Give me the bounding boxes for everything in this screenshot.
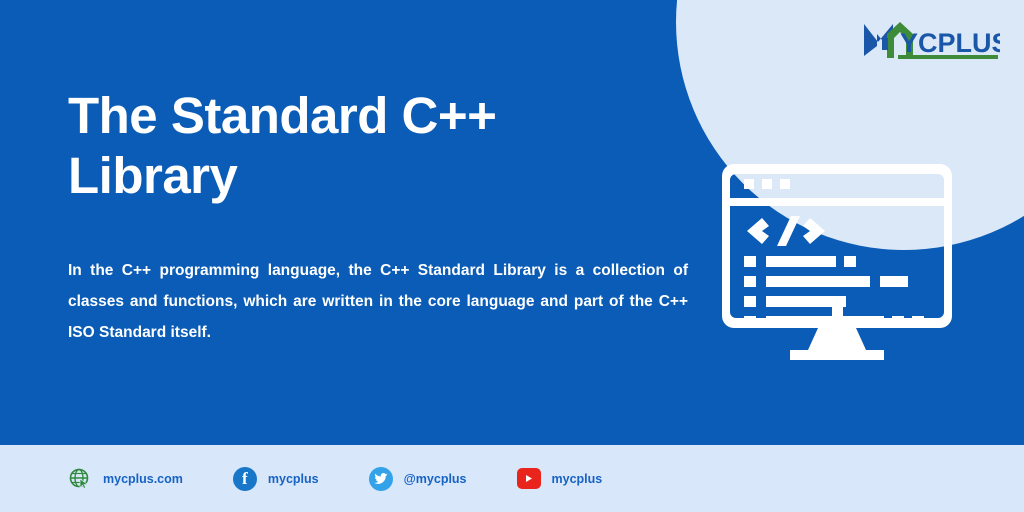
footer-label-facebook: mycplus [268,472,319,486]
mycplus-logo-icon: YCPLUS [860,20,1000,64]
code-monitor-icon [722,158,952,363]
footer-label-youtube: mycplus [552,472,603,486]
footer-item-facebook[interactable]: f mycplus [233,467,319,491]
banner-root: YCPLUS The Standard C++ Library In the C… [0,0,1024,512]
footer-item-youtube[interactable]: mycplus [517,467,603,491]
hero-description: In the C++ programming language, the C++… [68,255,688,348]
svg-text:YCPLUS: YCPLUS [900,28,1000,58]
facebook-icon: f [233,467,257,491]
brand-logo[interactable]: YCPLUS [860,20,1000,64]
footer-item-website[interactable]: mycplus.com [68,467,183,491]
footer-label-website: mycplus.com [103,472,183,486]
footer-bar: mycplus.com f mycplus @mycplus [0,445,1024,512]
globe-icon [68,467,92,491]
twitter-icon [369,467,393,491]
youtube-icon [517,467,541,491]
footer-item-twitter[interactable]: @mycplus [369,467,467,491]
footer-label-twitter: @mycplus [404,472,467,486]
page-title: The Standard C++ Library [68,86,668,206]
